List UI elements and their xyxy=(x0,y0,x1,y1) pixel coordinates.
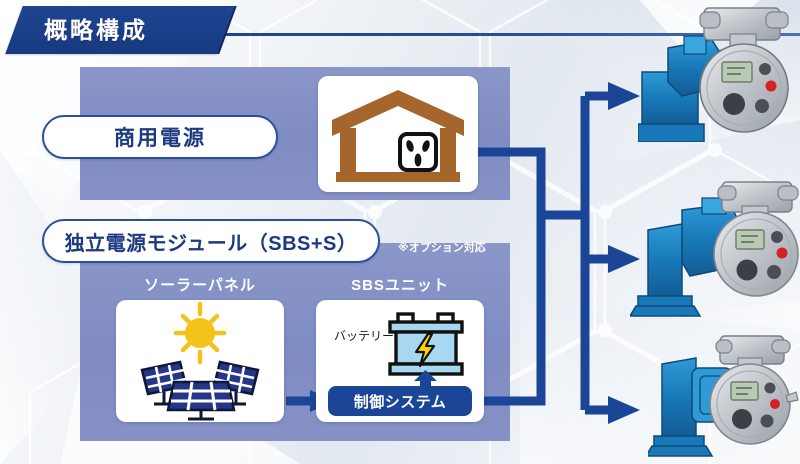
metering-pump-icon xyxy=(648,330,800,464)
metering-pump-icon xyxy=(630,180,800,324)
metering-pump-1 xyxy=(638,0,800,142)
diagram-canvas: 概略構成 商用電源 xyxy=(0,0,800,464)
metering-pump-3 xyxy=(648,330,800,464)
metering-pump-2 xyxy=(630,180,800,324)
metering-pump-icon xyxy=(638,0,800,142)
control-system-box[interactable]: 制御システム xyxy=(328,386,472,416)
battery-label: バッテリー xyxy=(320,327,394,344)
